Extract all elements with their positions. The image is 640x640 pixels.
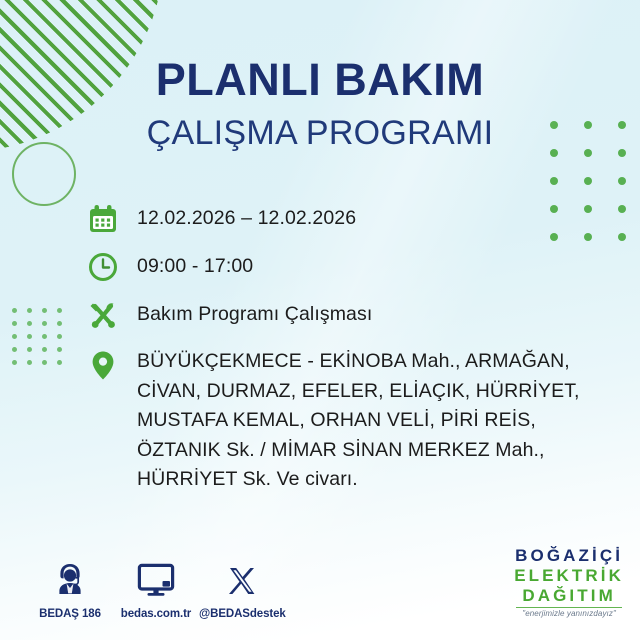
brand-line-2: ELEKTRİK [514,567,624,584]
map-pin-icon [86,348,120,382]
location-line-4: ÖZTANIK Sk. / MİMAR SİNAN MERKEZ Mah., [137,439,545,461]
contact-website[interactable]: bedas.com.tr [113,559,199,622]
brand-divider [516,607,622,608]
contact-x-label: @BEDASdestek [199,608,286,620]
brand-tagline: "enerjimizle yanınızdayız" [514,610,624,618]
contact-phone[interactable]: BEDAŞ 186 [27,559,113,622]
contact-website-label: bedas.com.tr [121,608,191,620]
brand-line-3: DAĞITIM [514,587,624,604]
contact-list: BEDAŞ 186 bedas.com.tr [27,559,285,622]
location-line-1: BÜYÜKÇEKMECE - EKİNOBA Mah., ARMAĞAN, [137,350,570,372]
poster-header: PLANLI BAKIM ÇALIŞMA PROGRAMI [0,57,640,150]
monitor-icon [113,559,199,597]
page-subtitle: ÇALIŞMA PROGRAMI [0,116,640,150]
work-type-text: Bakım Programı Çalışması [137,298,372,329]
info-row-time: 09:00 - 17:00 [86,250,600,284]
x-twitter-icon [199,559,285,597]
poster-canvas: PLANLI BAKIM ÇALIŞMA PROGRAMI [0,0,640,640]
location-line-3: MUSTAFA KEMAL, ORHAN VELİ, PİRİ REİS, [137,409,536,431]
tools-icon [86,298,120,332]
contact-x-twitter[interactable]: @BEDASdestek [199,559,285,622]
location-line-5: HÜRRİYET Sk. Ve civarı. [137,468,358,490]
contact-phone-label: BEDAŞ 186 [39,608,101,620]
date-range-text: 12.02.2026 – 12.02.2026 [137,202,356,233]
location-line-2: CİVAN, DURMAZ, EFELER, ELİAÇIK, HÜRRİYET… [137,380,580,402]
location-text: BÜYÜKÇEKMECE - EKİNOBA Mah., ARMAĞAN, Cİ… [137,346,580,495]
brand-logo: BOĞAZİÇİ ELEKTRİK DAĞITIM "enerjimizle y… [514,547,624,618]
circle-outline-decoration [12,142,76,206]
poster-footer: BEDAŞ 186 bedas.com.tr [0,548,640,640]
clock-icon [86,250,120,284]
info-row-location: BÜYÜKÇEKMECE - EKİNOBA Mah., ARMAĞAN, Cİ… [86,346,600,495]
info-row-work-type: Bakım Programı Çalışması [86,298,600,332]
page-title: PLANLI BAKIM [0,57,640,102]
support-agent-icon [27,559,113,597]
time-range-text: 09:00 - 17:00 [137,250,253,281]
calendar-icon [86,202,120,236]
dot-grid-left-decoration [12,308,72,373]
info-row-date: 12.02.2026 – 12.02.2026 [86,202,600,236]
brand-line-1: BOĞAZİÇİ [514,547,624,564]
info-list: 12.02.2026 – 12.02.2026 09:00 - 17:00 [86,202,600,495]
